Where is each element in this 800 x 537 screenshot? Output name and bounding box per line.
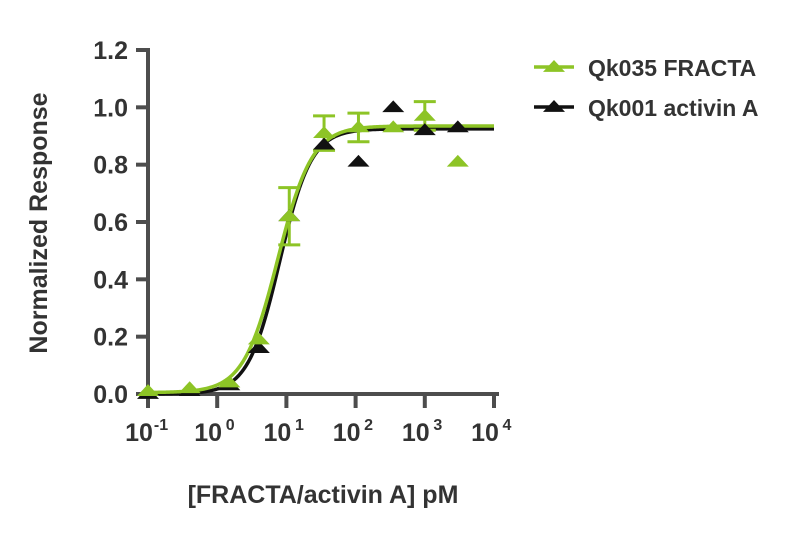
x-tick-mantissa: 10 [333, 419, 361, 447]
chart-figure: 0.00.20.40.60.81.01.2 10-110010110210310… [0, 0, 800, 537]
y-tick-label: 0.6 [93, 209, 128, 237]
x-tick-mantissa: 10 [471, 419, 499, 447]
y-tick-label: 0.8 [93, 152, 128, 180]
y-tick-label: 0.0 [93, 381, 128, 409]
y-tick-label: 0.2 [93, 324, 128, 352]
y-tick-label: 1.0 [93, 94, 128, 122]
legend-label: Qk001 activin A [588, 95, 758, 121]
x-tick-mantissa: 10 [194, 419, 222, 447]
x-tick-mantissa: 10 [402, 419, 430, 447]
x-tick-exponent: 1 [295, 417, 304, 434]
y-tick-label: 0.4 [93, 266, 128, 294]
x-tick-mantissa: 10 [125, 419, 153, 447]
legend-label: Qk035 FRACTA [588, 55, 756, 81]
y-tick-label: 1.2 [93, 37, 128, 65]
x-tick-exponent: 0 [226, 417, 235, 434]
x-axis-title: [FRACTA/activin A] pM [188, 481, 459, 509]
x-tick-exponent: 4 [503, 417, 512, 434]
x-tick-exponent: 3 [433, 417, 442, 434]
y-axis-title: Normalized Response [25, 92, 53, 353]
x-tick-mantissa: 10 [263, 419, 291, 447]
x-tick-exponent: -1 [154, 417, 168, 434]
x-tick-exponent: 2 [364, 417, 373, 434]
dose-response-chart: 0.00.20.40.60.81.01.2 10-110010110210310… [0, 0, 800, 537]
